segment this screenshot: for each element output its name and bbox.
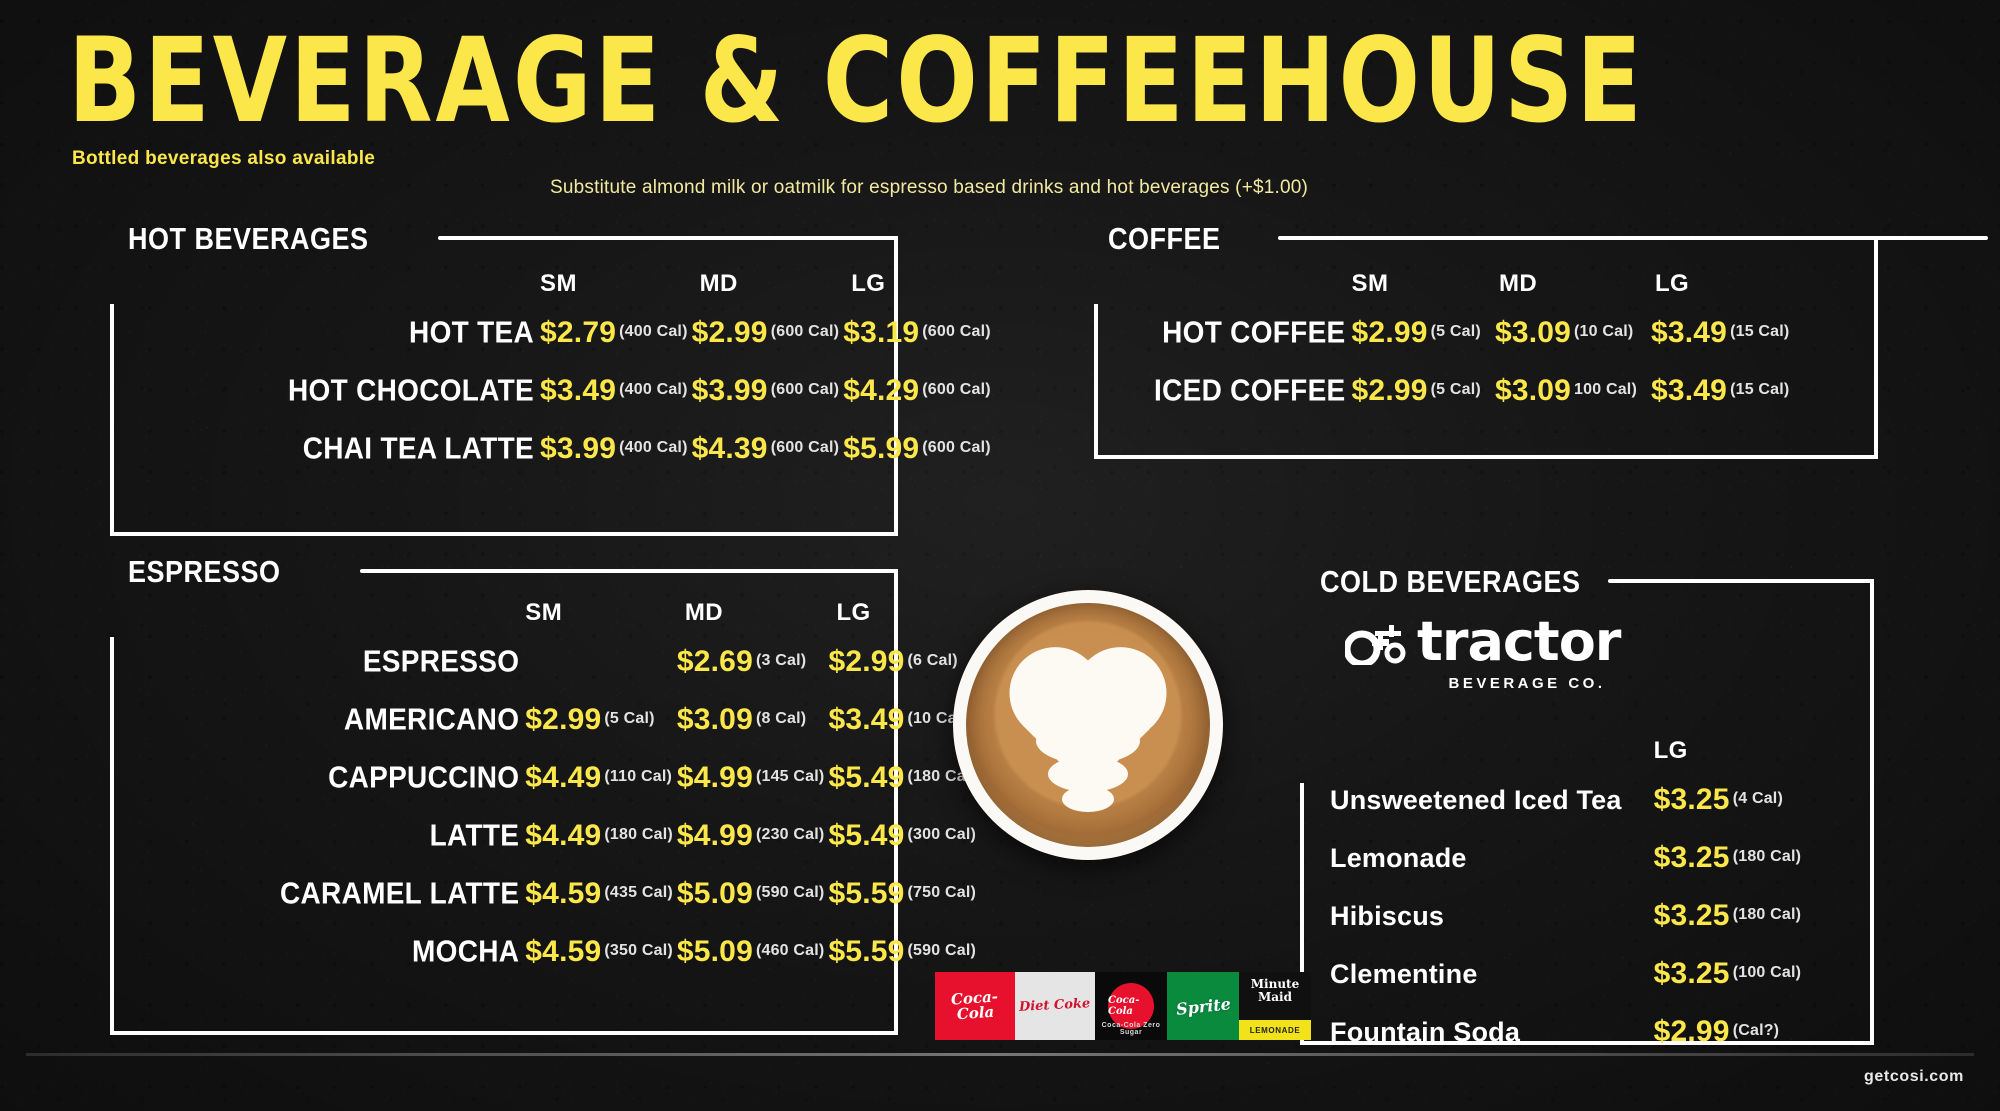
substitute-note: Substitute almond milk or oatmilk for es…: [550, 177, 1308, 199]
size-header-lg: LG: [839, 270, 991, 304]
price-cell-lg: $4.29(600 Cal): [839, 362, 991, 420]
price-cell-md: $2.99(600 Cal): [688, 304, 840, 362]
table-row: Lemonade $3.25(180 Cal): [1330, 829, 1801, 887]
price: $4.59: [525, 935, 601, 968]
price: $3.09: [677, 703, 753, 736]
calories: (110 Cal): [604, 768, 672, 785]
calories: (6 Cal): [908, 652, 958, 669]
calories: (10 Cal): [1574, 323, 1633, 340]
table-row: HOT TEA $2.79(400 Cal) $2.99(600 Cal) $3…: [288, 304, 991, 362]
bracket-right: [1870, 579, 1874, 1045]
price: $2.79: [540, 316, 616, 349]
calories: (460 Cal): [756, 942, 825, 959]
price: $4.99: [677, 761, 753, 794]
section-rule: [1278, 236, 1988, 240]
section-coffee: COFFEE SM MD LG HOT COFFEE $2.99(5 Cal) …: [1108, 222, 1878, 452]
calories: (145 Cal): [756, 768, 825, 785]
price-cell-md: $4.99(230 Cal): [673, 807, 825, 865]
size-header-md: MD: [1481, 270, 1637, 304]
size-header-md: MD: [688, 270, 840, 304]
price: $4.29: [843, 374, 919, 407]
soda-brand-logos: Coca-Cola Diet Coke Coca-Cola Coca-Cola …: [935, 972, 1311, 1040]
bottled-beverages-note: Bottled beverages also available: [72, 148, 375, 170]
page-title: BEVERAGE & COFFEEHOUSE: [68, 22, 1645, 139]
size-header-row: LG: [1330, 737, 1801, 771]
price-cell-lg: $3.49(15 Cal): [1637, 362, 1789, 420]
price: $3.25: [1654, 899, 1730, 932]
table-hot-beverages: SM MD LG HOT TEA $2.79(400 Cal) $2.99(60…: [288, 270, 991, 478]
sprite-logo: Sprite: [1167, 972, 1239, 1040]
price: $3.99: [692, 374, 768, 407]
minute-maid-sublabel: LEMONADE: [1250, 1026, 1301, 1035]
price: $5.59: [828, 935, 904, 968]
size-header-sm: SM: [534, 270, 688, 304]
price-cell-md: $4.39(600 Cal): [688, 420, 840, 478]
calories: (5 Cal): [1431, 381, 1481, 398]
coke-zero-wordmark: Coca-Cola: [1108, 995, 1154, 1017]
table-row: MOCHA $4.59(350 Cal) $5.09(460 Cal) $5.5…: [280, 923, 976, 981]
price: $2.99: [525, 703, 601, 736]
calories: 100 Cal): [1574, 381, 1637, 398]
item-name: LATTE: [280, 805, 519, 868]
table-row: HOT COFFEE $2.99(5 Cal) $3.09(10 Cal) $3…: [1154, 304, 1789, 362]
price: $3.19: [843, 316, 919, 349]
price-cell-sm: $2.99(5 Cal): [1346, 304, 1481, 362]
minute-maid-lemonade-bar: LEMONADE: [1239, 1020, 1311, 1040]
table-row: Unsweetened Iced Tea $3.25(4 Cal): [1330, 771, 1801, 829]
section-title-cold-beverages: COLD BEVERAGES: [1320, 565, 1581, 600]
size-header-row: SM MD LG: [288, 270, 991, 304]
item-name: HOT COFFEE: [1154, 302, 1346, 365]
latte-art-photo: [953, 590, 1223, 860]
size-header-lg: LG: [1644, 737, 1802, 771]
calories: (600 Cal): [771, 439, 840, 456]
bracket-bottom: [1094, 455, 1878, 459]
item-name: AMERICANO: [280, 689, 519, 752]
price: $3.49: [1651, 374, 1727, 407]
tractor-wordmark: tractor: [1417, 615, 1620, 669]
price-cell-lg: $3.25(4 Cal): [1644, 771, 1802, 829]
price-cell-md: $4.99(145 Cal): [673, 749, 825, 807]
price-cell-md: $5.09(460 Cal): [673, 923, 825, 981]
section-title-coffee: COFFEE: [1108, 222, 1221, 257]
price-cell-sm: $4.49(110 Cal): [519, 749, 673, 807]
menu-board: BEVERAGE & COFFEEHOUSE Bottled beverages…: [0, 0, 2000, 1111]
price-cell-md: $3.09(8 Cal): [673, 691, 825, 749]
size-header-sm: SM: [1346, 270, 1481, 304]
section-rule: [438, 236, 898, 240]
price-cell-sm: $2.79(400 Cal): [534, 304, 688, 362]
price: $2.99: [1352, 316, 1428, 349]
calories: (Cal?): [1733, 1022, 1780, 1039]
calories: (180 Cal): [1733, 848, 1802, 865]
section-title-espresso: ESPRESSO: [128, 555, 281, 590]
price: $3.99: [540, 432, 616, 465]
calories: (590 Cal): [908, 942, 977, 959]
coca-cola-logo: Coca-Cola: [935, 972, 1015, 1040]
table-row: CARAMEL LATTE $4.59(435 Cal) $5.09(590 C…: [280, 865, 976, 923]
calories: (100 Cal): [1733, 964, 1802, 981]
price-cell-lg: $5.99(600 Cal): [839, 420, 991, 478]
item-name: Lemonade: [1330, 829, 1644, 887]
calories: (3 Cal): [756, 652, 806, 669]
calories: (600 Cal): [771, 381, 840, 398]
price: $5.49: [828, 761, 904, 794]
item-name: Unsweetened Iced Tea: [1330, 771, 1644, 829]
calories: (15 Cal): [1730, 381, 1789, 398]
size-header-lg: LG: [1637, 270, 1789, 304]
price: $2.99: [692, 316, 768, 349]
footer-website: getcosi.com: [1864, 1068, 1964, 1086]
price-cell-sm: $4.59(435 Cal): [519, 865, 673, 923]
calories: (590 Cal): [756, 884, 825, 901]
table-row: Hibiscus $3.25(180 Cal): [1330, 887, 1801, 945]
diet-coke-logo: Diet Coke: [1015, 972, 1095, 1040]
item-name: Hibiscus: [1330, 887, 1644, 945]
price: $4.99: [677, 819, 753, 852]
item-name: Clementine: [1330, 945, 1644, 1003]
price-cell-sm: [519, 633, 673, 691]
table-row: ICED COFFEE $2.99(5 Cal) $3.09100 Cal) $…: [1154, 362, 1789, 420]
price: $4.39: [692, 432, 768, 465]
calories: (600 Cal): [922, 381, 991, 398]
calories: (350 Cal): [604, 942, 673, 959]
section-rule: [360, 569, 898, 573]
table-row: HOT CHOCOLATE $3.49(400 Cal) $3.99(600 C…: [288, 362, 991, 420]
diet-coke-wordmark: Diet Coke: [1019, 997, 1091, 1014]
coke-zero-sublabel: Coca-Cola Zero Sugar: [1095, 1022, 1167, 1036]
calories: (400 Cal): [619, 323, 688, 340]
calories: (8 Cal): [756, 710, 806, 727]
price: $3.09: [1495, 374, 1571, 407]
table-row: CAPPUCCINO $4.49(110 Cal) $4.99(145 Cal)…: [280, 749, 976, 807]
price: $2.99: [1654, 1015, 1730, 1048]
price-cell-md: $5.09(590 Cal): [673, 865, 825, 923]
calories: (15 Cal): [1730, 323, 1789, 340]
item-name: ESPRESSO: [280, 631, 519, 694]
calories: (230 Cal): [756, 826, 825, 843]
table-coffee: SM MD LG HOT COFFEE $2.99(5 Cal) $3.09(1…: [1154, 270, 1789, 420]
price: $3.25: [1654, 957, 1730, 990]
calories: (400 Cal): [619, 381, 688, 398]
item-name: HOT TEA: [288, 302, 534, 365]
price: $3.09: [1495, 316, 1571, 349]
price: $2.69: [677, 645, 753, 678]
price: $5.09: [677, 935, 753, 968]
item-name: CHAI TEA LATTE: [288, 418, 534, 481]
section-hot-beverages: HOT BEVERAGES SM MD LG HOT TEA $2.79(400…: [128, 222, 898, 512]
price-cell-lg: $3.25(100 Cal): [1644, 945, 1802, 1003]
price-cell-lg: $5.59(750 Cal): [824, 865, 976, 923]
price: $5.59: [828, 877, 904, 910]
size-header-row: SM MD LG: [280, 599, 976, 633]
bracket-bottom: [110, 532, 898, 536]
price: $2.99: [828, 645, 904, 678]
price: $4.59: [525, 877, 601, 910]
price-cell-md: $2.69(3 Cal): [673, 633, 825, 691]
item-name: CARAMEL LATTE: [280, 863, 519, 926]
calories: (180 Cal): [604, 826, 673, 843]
calories: (600 Cal): [922, 323, 991, 340]
minute-maid-logo: Minute Maid LEMONADE: [1239, 972, 1311, 1040]
price: $5.99: [843, 432, 919, 465]
sprite-wordmark: Sprite: [1175, 994, 1232, 1019]
section-cold-beverages: COLD BEVERAGES tractor BEVERAGE CO.: [1320, 565, 1880, 1040]
bracket-bottom: [110, 1031, 898, 1035]
table-row: LATTE $4.49(180 Cal) $4.99(230 Cal) $5.4…: [280, 807, 976, 865]
calories: (750 Cal): [908, 884, 977, 901]
item-name: HOT CHOCOLATE: [288, 360, 534, 423]
section-rule: [1608, 579, 1874, 583]
price-cell-sm: $3.99(400 Cal): [534, 420, 688, 478]
table-espresso: SM MD LG ESPRESSO $2.69(3 Cal) $2.99(6 C…: [280, 599, 976, 981]
table-cold-beverages: LG Unsweetened Iced Tea $3.25(4 Cal) Lem…: [1330, 737, 1801, 1061]
calories: (600 Cal): [771, 323, 840, 340]
price-cell-md: $3.09100 Cal): [1481, 362, 1637, 420]
price-cell-md: $3.99(600 Cal): [688, 362, 840, 420]
item-name: CAPPUCCINO: [280, 747, 519, 810]
table-row: Clementine $3.25(100 Cal): [1330, 945, 1801, 1003]
calories: (400 Cal): [619, 439, 688, 456]
price-cell-sm: $4.59(350 Cal): [519, 923, 673, 981]
footer-divider: [26, 1053, 1974, 1056]
bracket-left: [110, 637, 114, 1035]
price: $4.49: [525, 761, 601, 794]
price-cell-sm: $2.99(5 Cal): [519, 691, 673, 749]
table-row: ESPRESSO $2.69(3 Cal) $2.99(6 Cal): [280, 633, 976, 691]
minute-maid-wordmark: Minute Maid: [1239, 978, 1311, 1003]
calories: (600 Cal): [922, 439, 991, 456]
price-cell-sm: $4.49(180 Cal): [519, 807, 673, 865]
size-header-sm: SM: [519, 599, 673, 633]
price-cell-lg: $3.25(180 Cal): [1644, 887, 1802, 945]
price: $3.49: [1651, 316, 1727, 349]
price: $3.25: [1654, 841, 1730, 874]
section-espresso: ESPRESSO SM MD LG ESPRESSO $2.69(3 Cal) …: [128, 555, 898, 1040]
calories: (180 Cal): [1733, 906, 1802, 923]
bracket-right: [1874, 236, 1878, 459]
item-name: MOCHA: [280, 921, 519, 984]
coca-cola-wordmark: Coca-Cola: [935, 988, 1015, 1024]
coke-zero-logo: Coca-Cola Coca-Cola Zero Sugar: [1095, 972, 1167, 1040]
bracket-left: [110, 304, 114, 536]
price: $5.09: [677, 877, 753, 910]
price: $5.49: [828, 819, 904, 852]
calories: (5 Cal): [1431, 323, 1481, 340]
price-cell-sm: $3.49(400 Cal): [534, 362, 688, 420]
price-cell-lg: $3.25(180 Cal): [1644, 829, 1802, 887]
price-cell-md: $3.09(10 Cal): [1481, 304, 1637, 362]
price-cell-lg: $3.49(15 Cal): [1637, 304, 1789, 362]
tractor-tagline: BEVERAGE CO.: [1379, 675, 1675, 692]
item-name: ICED COFFEE: [1154, 360, 1346, 423]
bracket-left: [1094, 304, 1098, 459]
latte-cup: [953, 590, 1223, 860]
table-row: CHAI TEA LATTE $3.99(400 Cal) $4.39(600 …: [288, 420, 991, 478]
price: $2.99: [1352, 374, 1428, 407]
price: $3.49: [828, 703, 904, 736]
table-row: AMERICANO $2.99(5 Cal) $3.09(8 Cal) $3.4…: [280, 691, 976, 749]
price-cell-sm: $2.99(5 Cal): [1346, 362, 1481, 420]
calories: (5 Cal): [604, 710, 654, 727]
price-cell-lg: $3.19(600 Cal): [839, 304, 991, 362]
price: $3.49: [540, 374, 616, 407]
price: $3.25: [1654, 783, 1730, 816]
tractor-beverage-logo: tractor BEVERAGE CO.: [1345, 615, 1675, 692]
calories: (435 Cal): [604, 884, 673, 901]
price: $4.49: [525, 819, 601, 852]
calories: (4 Cal): [1733, 790, 1783, 807]
section-title-hot-beverages: HOT BEVERAGES: [128, 222, 369, 257]
cup-rim: [953, 590, 1223, 860]
size-header-md: MD: [673, 599, 825, 633]
tractor-icon: [1345, 619, 1411, 665]
size-header-row: SM MD LG: [1154, 270, 1789, 304]
